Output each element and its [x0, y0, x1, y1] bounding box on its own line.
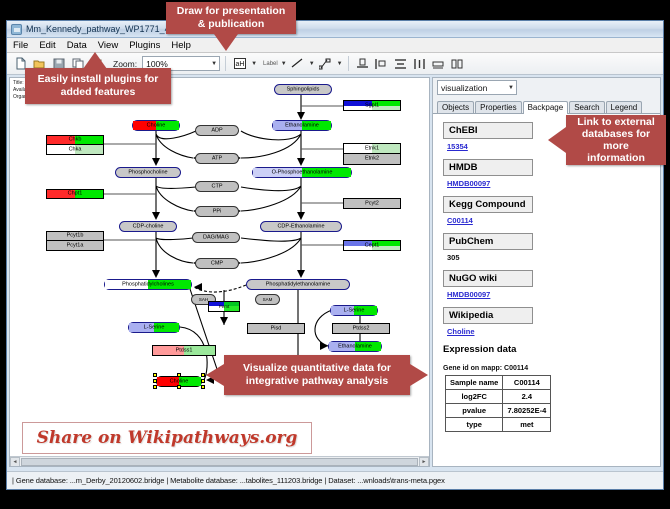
svg-text:aH: aH: [235, 61, 244, 68]
node-label: L-Serine: [129, 325, 179, 331]
metabolite-node[interactable]: Choline: [132, 120, 180, 131]
visualization-selector-row: visualization ▼: [433, 78, 660, 98]
menu-item-help[interactable]: Help: [170, 40, 192, 51]
metabolite-node[interactable]: Sphingolipids: [274, 84, 332, 95]
gene-node[interactable]: Pcyt1a: [46, 241, 104, 251]
gene-node[interactable]: Pemt: [208, 301, 240, 312]
shape-icon[interactable]: [317, 55, 334, 72]
node-label: L-Serine: [331, 308, 377, 314]
metabolite-node[interactable]: CTP: [195, 181, 239, 192]
gene-id-line: Gene id on mapp: C00114: [443, 365, 660, 372]
table-cell-key: log2FC: [446, 390, 503, 404]
align-left-icon[interactable]: [373, 55, 390, 72]
status-text: | Gene database: ...m_Derby_20120602.bri…: [12, 476, 445, 485]
gene-node[interactable]: Ptdss2: [332, 323, 390, 334]
align-bottom-icon[interactable]: [354, 55, 371, 72]
node-label: Chka: [47, 147, 103, 153]
table-row: Sample name C00114: [446, 376, 551, 390]
gene-node[interactable]: Chka: [46, 145, 104, 155]
menu-item-edit[interactable]: Edit: [38, 40, 56, 51]
node-label: CMP: [196, 261, 238, 267]
tab-legend[interactable]: Legend: [606, 101, 643, 113]
node-label: CTP: [196, 184, 238, 190]
db-link-wikipedia[interactable]: Choline: [447, 327, 660, 336]
zoom-label: Zoom:: [113, 59, 137, 69]
label-tool-text[interactable]: Label: [263, 61, 278, 67]
table-row: log2FC 2.4: [446, 390, 551, 404]
callout-visualize-quantitative-data: Visualize quantitative data for integrat…: [224, 355, 410, 395]
gene-node[interactable]: Cept1: [343, 240, 401, 251]
node-label: Sgpl1: [344, 103, 400, 109]
node-label: Sphingolipids: [275, 87, 331, 93]
selection-handle[interactable]: [153, 373, 157, 377]
node-label: Phosphocholine: [116, 170, 180, 176]
size-match-icon[interactable]: [430, 55, 447, 72]
expression-table: Sample name C00114 log2FC 2.4 pvalue 7.8…: [445, 375, 551, 432]
callout-link-to-external-databases: Link to external databases for more info…: [566, 115, 666, 165]
distribute-vertical-icon[interactable]: [392, 55, 409, 72]
chevron-down-icon[interactable]: ▼: [337, 61, 343, 67]
node-label: Pcyt1a: [47, 243, 103, 249]
table-cell-key: type: [446, 418, 503, 432]
gene-node[interactable]: Pcyt2: [343, 198, 401, 209]
gene-node[interactable]: Etnk2: [343, 154, 401, 165]
node-label: Phosphatidylcholines: [105, 282, 191, 288]
menu-bar: File Edit Data View Plugins Help: [7, 38, 663, 53]
metabolite-node[interactable]: CDP-Ethanolamine: [260, 221, 342, 232]
db-header-nugowiki: NuGO wiki: [443, 270, 533, 287]
table-cell-value: 2.4: [503, 390, 551, 404]
node-label: ADP: [196, 128, 238, 134]
node-label: PPi: [196, 209, 238, 215]
table-row: type met: [446, 418, 551, 432]
line-icon[interactable]: [289, 55, 306, 72]
node-label: Choline: [157, 379, 201, 385]
db-header-wikipedia: Wikipedia: [443, 307, 533, 324]
node-label: Etnk1: [344, 146, 400, 152]
selection-handle[interactable]: [177, 373, 181, 377]
node-label: Pcyt1b: [47, 233, 103, 239]
callout-text: Visualize quantitative data for integrat…: [232, 362, 402, 388]
node-label: Ethanolamine: [273, 123, 331, 129]
node-label: Chpt1: [47, 191, 103, 197]
chevron-down-icon[interactable]: ▼: [281, 61, 287, 67]
metabolite-node[interactable]: ATP: [195, 153, 239, 164]
metabolite-node[interactable]: Phosphatidylethanolamine: [246, 279, 350, 290]
callout-arrow-left-icon: [206, 364, 224, 386]
callout-arrow-up-icon: [83, 52, 107, 69]
stack-icon[interactable]: [449, 55, 466, 72]
tab-properties[interactable]: Properties: [475, 101, 521, 113]
menu-item-plugins[interactable]: Plugins: [128, 40, 161, 51]
selection-handle[interactable]: [153, 379, 157, 383]
gene-node[interactable]: Chpt1: [46, 189, 104, 199]
node-label: ATP: [196, 156, 238, 162]
node-label: Ethanolamine: [329, 344, 381, 350]
pathway-canvas[interactable]: Title: Availa Organ: [9, 77, 430, 467]
node-label: SAH: [192, 297, 215, 302]
expression-data-heading: Expression data: [443, 344, 660, 355]
table-cell-value: met: [503, 418, 551, 432]
gene-node[interactable]: Etnk1: [343, 143, 401, 154]
node-label: O-Phosphoethanolamine: [253, 170, 351, 176]
distribute-horizontal-icon[interactable]: [411, 55, 428, 72]
db-header-pubchem: PubChem: [443, 233, 533, 250]
toolbar-separator: [348, 56, 349, 71]
node-label: CDP-choline: [120, 224, 176, 230]
visualization-value: visualization: [441, 83, 487, 93]
title-bar: Mm_Kennedy_pathway_WP1771_45176.gpml: [7, 21, 663, 38]
node-label: Ptdss2: [333, 326, 389, 332]
node-label: Ptdss1: [153, 348, 215, 354]
callout-draw-for-presentation: Draw for presentation & publication: [166, 2, 296, 34]
metabolite-node[interactable]: CDP-choline: [119, 221, 177, 232]
scroll-right-icon[interactable]: ►: [419, 457, 429, 467]
gene-node[interactable]: Chkb: [46, 135, 104, 145]
table-cell-value: C00114: [503, 376, 551, 390]
node-label: CDP-Ethanolamine: [261, 224, 341, 230]
node-label: Phosphatidylethanolamine: [247, 282, 349, 288]
menu-item-view[interactable]: View: [97, 40, 119, 51]
db-link-kegg[interactable]: C00114: [447, 216, 660, 225]
chevron-down-icon: ▼: [211, 61, 217, 67]
callout-arrow-right-icon: [410, 364, 428, 386]
gene-node[interactable]: Sgpl1: [343, 100, 401, 111]
db-link-nugowiki[interactable]: HMDB00097: [447, 290, 660, 299]
chevron-down-icon[interactable]: ▼: [309, 61, 315, 67]
callout-text: Draw for presentation & publication: [174, 5, 288, 31]
node-label: Etnk2: [344, 156, 400, 162]
datanode-icon[interactable]: aH: [231, 55, 248, 72]
node-label: SAM: [256, 297, 279, 302]
metabolite-node[interactable]: SAM: [255, 294, 280, 305]
node-label: Pisd: [248, 326, 304, 332]
chevron-down-icon: ▼: [508, 85, 514, 91]
table-cell-key: Sample name: [446, 376, 503, 390]
metabolite-node[interactable]: PPi: [195, 206, 239, 217]
scroll-thumb[interactable]: [21, 458, 418, 466]
canvas-hscrollbar[interactable]: ◄ ►: [10, 456, 429, 466]
callout-text: Link to external databases for more info…: [574, 116, 658, 164]
metabolite-node[interactable]: DAG/MAG: [192, 232, 240, 243]
tab-objects[interactable]: Objects: [437, 101, 474, 113]
callout-arrow-left-icon: [548, 127, 566, 153]
node-label: DAG/MAG: [193, 235, 239, 241]
node-label: Chkb: [47, 137, 103, 143]
zoom-value: 100%: [146, 59, 168, 69]
selection-handle[interactable]: [201, 373, 205, 377]
metabolite-node[interactable]: Phosphatidylcholines: [104, 279, 192, 290]
backpage-content: ChEBI 15354 HMDB HMDB00097 Kegg Compound…: [433, 114, 660, 466]
node-label: Pemt: [209, 304, 239, 309]
selection-handle[interactable]: [153, 385, 157, 389]
node-label: Pcyt2: [344, 201, 400, 207]
toolbar-separator: [225, 56, 226, 71]
metabolite-node[interactable]: L-Serine: [128, 322, 180, 333]
tab-backpage[interactable]: Backpage: [523, 101, 569, 114]
metabolite-node[interactable]: CMP: [195, 258, 239, 269]
gene-node[interactable]: Ptdss1: [152, 345, 216, 356]
db-header-hmdb: HMDB: [443, 159, 533, 176]
selection-handle[interactable]: [201, 385, 205, 389]
db-value-pubchem: 305: [447, 253, 660, 262]
table-cell-key: pvalue: [446, 404, 503, 418]
chevron-down-icon[interactable]: ▼: [251, 61, 257, 67]
visualization-combo[interactable]: visualization ▼: [437, 80, 517, 95]
callout-arrow-down-icon: [214, 34, 238, 51]
screenshot-root: Mm_Kennedy_pathway_WP1771_45176.gpml Fil…: [0, 0, 670, 509]
callout-easily-install-plugins: Easily install plugins for added feature…: [25, 68, 171, 104]
banner-share-on-wikipathways: Share on Wikipathways.org: [22, 422, 312, 454]
gene-node[interactable]: Pcyt1b: [46, 231, 104, 241]
metabolite-node[interactable]: Ethanolamine: [328, 341, 382, 352]
selection-handle[interactable]: [177, 385, 181, 389]
panel-tabs: Objects Properties Backpage Search Legen…: [433, 98, 660, 114]
selection-handle[interactable]: [201, 379, 205, 383]
banner-text: Share on Wikipathways.org: [37, 428, 298, 448]
table-cell-value: 7.80252E-4: [503, 404, 551, 418]
metabolite-node[interactable]: O-Phosphoethanolamine: [252, 167, 352, 178]
callout-text: Easily install plugins for added feature…: [33, 73, 163, 99]
metabolite-node[interactable]: Phosphocholine: [115, 167, 181, 178]
app-icon: [11, 24, 22, 35]
gene-node[interactable]: Pisd: [247, 323, 305, 334]
tab-search[interactable]: Search: [569, 101, 604, 113]
db-link-hmdb[interactable]: HMDB00097: [447, 179, 660, 188]
table-row: pvalue 7.80252E-4: [446, 404, 551, 418]
db-header-kegg: Kegg Compound: [443, 196, 533, 213]
menu-item-file[interactable]: File: [12, 40, 29, 51]
metabolite-node[interactable]: Ethanolamine: [272, 120, 332, 131]
node-label: Cept1: [344, 243, 400, 249]
menu-item-data[interactable]: Data: [66, 40, 88, 51]
metabolite-node[interactable]: ADP: [195, 125, 239, 136]
node-label: Choline: [133, 123, 179, 129]
metabolite-node[interactable]: L-Serine: [330, 305, 378, 316]
status-bar: | Gene database: ...m_Derby_20120602.bri…: [7, 471, 663, 489]
scroll-left-icon[interactable]: ◄: [10, 457, 20, 467]
db-header-chebi: ChEBI: [443, 122, 533, 139]
